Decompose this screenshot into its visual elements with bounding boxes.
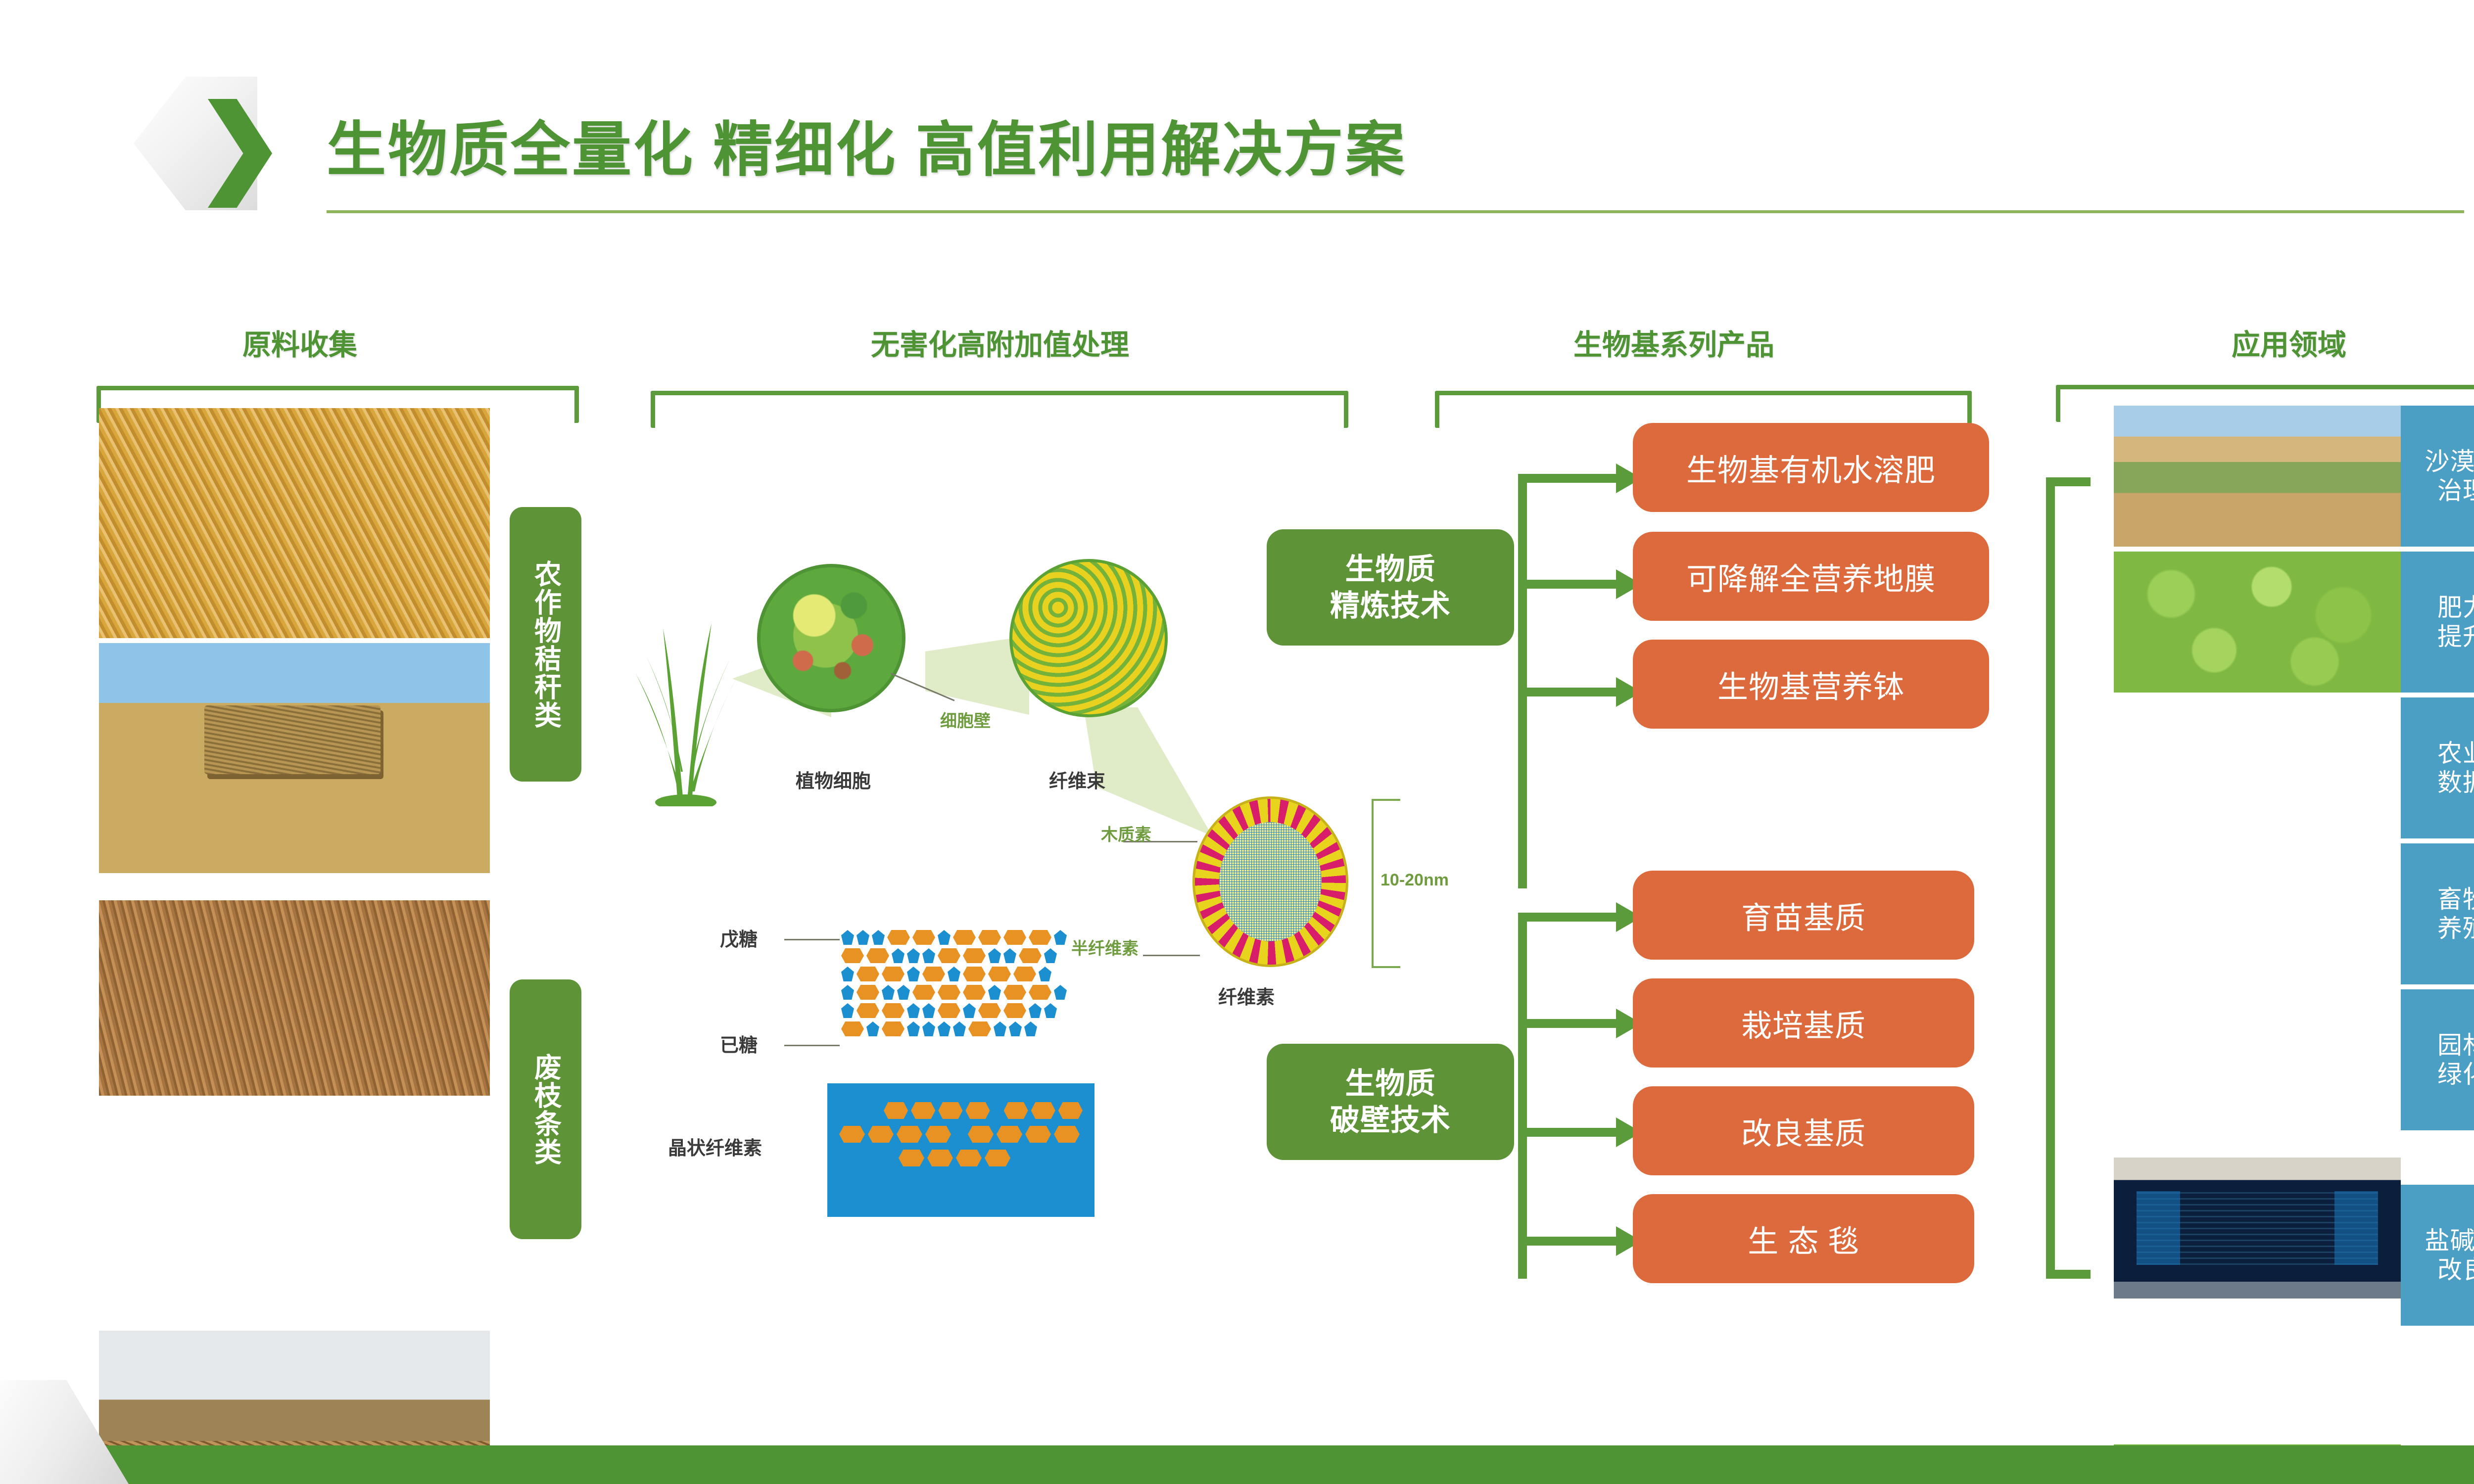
section-title-collection: 原料收集 <box>242 322 357 363</box>
label-crystalline-cellulose: 晶状纤维素 <box>668 1133 762 1160</box>
app-label-desert-line1: 沙漠化 <box>2425 447 2474 476</box>
app-label-saline-soil-improvement[interactable]: 盐碱地 改良 <box>2401 1185 2474 1326</box>
infographic-slide: 生物质全量化 精细化 高值利用解决方案 原料收集 无害化高附加值处理 生物基系列… <box>0 0 2474 1484</box>
dimension-line <box>1372 799 1374 967</box>
app-label-fertility-line1: 肥力 <box>2437 593 2474 622</box>
tech-refining-line1: 生物质 <box>1345 551 1436 587</box>
app-label-data-line1: 农业 <box>2437 739 2474 768</box>
photo-hay-bale-field <box>99 643 490 873</box>
connector-branch-cellwall-1 <box>1518 913 1617 922</box>
label-fiber-dimension: 10-20nm <box>1380 871 1449 890</box>
app-label-livestock-line2: 养殖 <box>2437 914 2474 943</box>
label-cell-wall: 细胞壁 <box>940 707 991 732</box>
label-cellulose: 纤维素 <box>1218 982 1275 1009</box>
page-title: 生物质全量化 精细化 高值利用解决方案 <box>327 101 1407 187</box>
title-underline-divider <box>327 210 2464 213</box>
photo-dry-branches <box>99 900 490 1096</box>
connector-spine-refining <box>1518 474 1527 888</box>
label-plant-cell: 植物细胞 <box>796 766 871 793</box>
app-label-livestock-line1: 畜牧 <box>2437 885 2474 914</box>
app-label-desert-line2: 治理 <box>2437 476 2474 506</box>
app-label-saline-line2: 改良 <box>2437 1255 2474 1285</box>
product-pill-seedling-substrate[interactable]: 育苗基质 <box>1633 871 1974 960</box>
crystalline-cellulose-illustration <box>827 1083 1094 1217</box>
connector-branch-cellwall-3 <box>1518 1128 1617 1137</box>
label-fiber-bundle: 纤维束 <box>1049 766 1105 793</box>
app-label-fertility-improvement[interactable]: 肥力 提升 <box>2401 552 2474 693</box>
label-pentose: 戊糖 <box>720 924 758 951</box>
photo-cabbage-field <box>2114 552 2401 693</box>
app-label-fertility-line2: 提升 <box>2437 622 2474 651</box>
cellulose-core <box>1219 822 1322 941</box>
connector-spine-cellwall <box>1518 913 1527 1279</box>
product-pill-ecological-blanket[interactable]: 生 态 毯 <box>1633 1194 1974 1283</box>
photo-agriculture-data-room <box>2114 1158 2401 1298</box>
product-pill-cultivation-substrate[interactable]: 栽培基质 <box>1633 978 1974 1067</box>
connector-top-applications <box>2046 477 2091 486</box>
cellulose-cross-section-illustration <box>1192 796 1348 967</box>
tech-cellwall-line2: 破壁技术 <box>1330 1102 1451 1138</box>
section-title-applications: 应用领域 <box>2232 322 2346 363</box>
label-lignin: 木质素 <box>1101 821 1151 845</box>
photo-desert-restoration <box>2114 406 2401 547</box>
connector-branch-refining-2 <box>1518 580 1617 589</box>
tech-pill-biomass-refining[interactable]: 生物质 精炼技术 <box>1267 529 1514 646</box>
app-label-greening-line1: 园林 <box>2437 1031 2474 1060</box>
photo-corn-straw-field <box>99 408 490 638</box>
app-label-data-line2: 数据 <box>2437 768 2474 797</box>
dimension-cap-bottom <box>1372 966 1400 968</box>
app-label-agriculture-data[interactable]: 农业 数据 <box>2401 697 2474 838</box>
app-label-greening-line2: 绿化 <box>2437 1060 2474 1089</box>
grass-plant-icon <box>628 559 742 806</box>
footer-bar <box>0 1445 2474 1484</box>
bracket-processing <box>651 391 1348 428</box>
hemicellulose-leader-line <box>1143 955 1200 956</box>
hexose-leader-line <box>784 1045 840 1046</box>
app-label-saline-line1: 盐碱地 <box>2425 1226 2474 1255</box>
tech-pill-cellwall-breaking[interactable]: 生物质 破壁技术 <box>1267 1044 1514 1160</box>
app-label-desertification-control[interactable]: 沙漠化 治理 <box>2401 406 2474 547</box>
connector-branch-refining-3 <box>1518 688 1617 696</box>
product-pill-degradable-nutrient-mulch-film[interactable]: 可降解全营养地膜 <box>1633 532 1989 621</box>
section-title-processing: 无害化高附加值处理 <box>871 322 1129 363</box>
label-hemicellulose: 半纤维素 <box>1071 935 1139 959</box>
sugar-chain-illustration <box>841 930 1067 1040</box>
category-pill-waste-branches[interactable]: 废枝条类 <box>510 979 581 1239</box>
connector-spine-applications <box>2046 477 2055 1279</box>
tech-refining-line2: 精炼技术 <box>1330 588 1451 624</box>
category-pill-crop-straw[interactable]: 农作物秸秆类 <box>510 507 581 782</box>
pentose-leader-line <box>784 939 840 940</box>
connector-branch-refining-1 <box>1518 474 1617 483</box>
plant-cell-illustration <box>757 564 905 712</box>
connector-branch-cellwall-2 <box>1518 1019 1617 1028</box>
product-pill-biobased-nutrient-pot[interactable]: 生物基营养钵 <box>1633 640 1989 729</box>
section-title-products: 生物基系列产品 <box>1573 322 1774 363</box>
dimension-cap-top <box>1372 799 1400 801</box>
fiber-bundle-illustration <box>1009 559 1168 717</box>
product-pill-improvement-substrate[interactable]: 改良基质 <box>1633 1086 1974 1175</box>
tech-cellwall-line1: 生物质 <box>1345 1066 1436 1102</box>
label-hexose: 已糖 <box>720 1030 758 1057</box>
product-pill-biobased-water-soluble-fertilizer[interactable]: 生物基有机水溶肥 <box>1633 423 1989 512</box>
connector-bottom-applications <box>2046 1270 2091 1279</box>
connector-branch-cellwall-4 <box>1518 1237 1617 1246</box>
bracket-products <box>1435 391 1972 428</box>
app-label-livestock-breeding[interactable]: 畜牧 养殖 <box>2401 843 2474 984</box>
app-label-landscape-greening[interactable]: 园林 绿化 <box>2401 989 2474 1130</box>
